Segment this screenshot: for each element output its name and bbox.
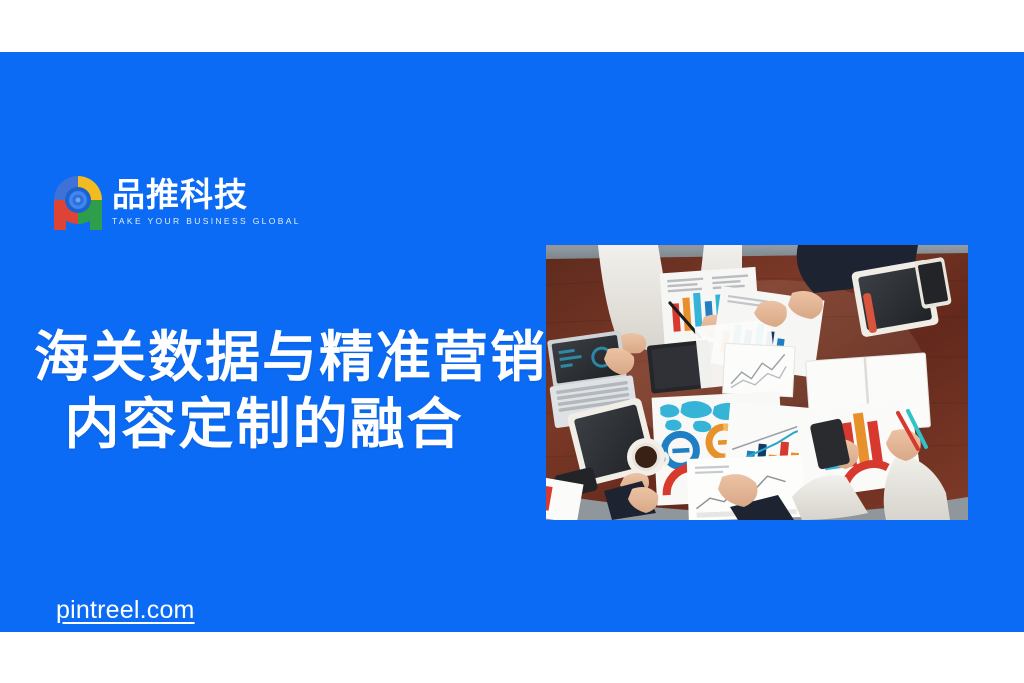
slide-canvas: 品推科技 TAKE YOUR BUSINESS GLOBAL 海关数据与精准营销… xyxy=(0,0,1024,683)
bottom-white-band xyxy=(0,632,1024,683)
headline-line-1: 海关数据与精准营销 xyxy=(34,324,494,391)
pintreel-logo-icon xyxy=(52,174,104,232)
headline-line-2: 内容定制的融合 xyxy=(34,391,494,458)
brand-logo[interactable]: 品推科技 TAKE YOUR BUSINESS GLOBAL xyxy=(52,174,301,232)
top-white-band xyxy=(0,0,1024,52)
logo-company-name: 品推科技 xyxy=(112,176,301,214)
site-url-link[interactable]: pintreel.com xyxy=(56,595,195,625)
logo-tagline: TAKE YOUR BUSINESS GLOBAL xyxy=(112,215,301,227)
headline-block: 海关数据与精准营销 内容定制的融合 xyxy=(34,324,494,458)
meeting-photo-illustration xyxy=(546,245,968,520)
meeting-photo xyxy=(546,245,968,520)
logo-text-block: 品推科技 TAKE YOUR BUSINESS GLOBAL xyxy=(112,174,301,227)
blue-background: 品推科技 TAKE YOUR BUSINESS GLOBAL 海关数据与精准营销… xyxy=(0,52,1024,632)
